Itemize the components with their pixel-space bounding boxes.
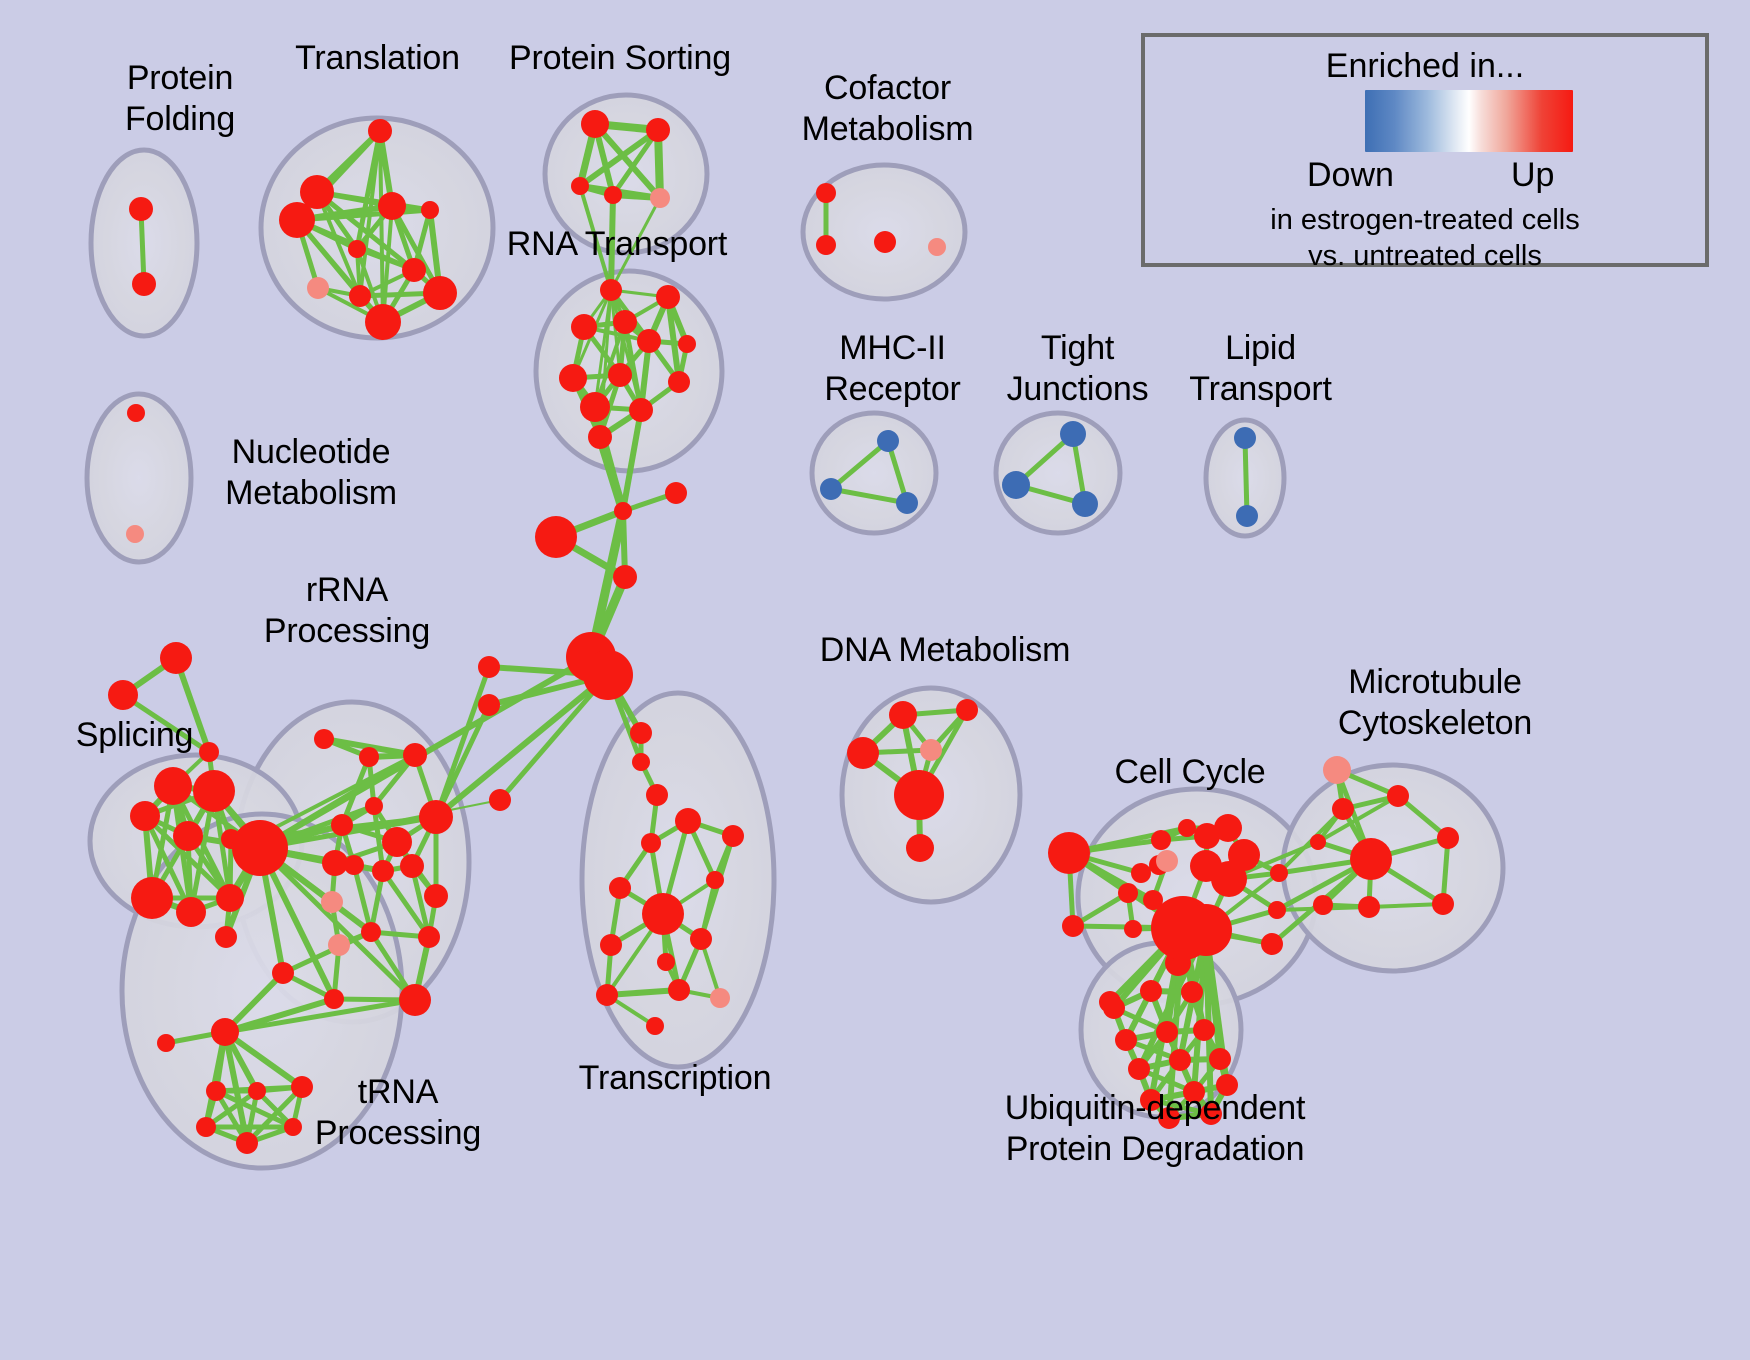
gene-set-node[interactable] (675, 808, 701, 834)
gene-set-node[interactable] (131, 877, 173, 919)
legend-caption-line-2: vs. untreated cells (1145, 240, 1705, 273)
enrichment-map-figure: Protein FoldingTranslationProtein Sortin… (0, 0, 1750, 1360)
gene-set-node[interactable] (1062, 915, 1084, 937)
gene-set-node[interactable] (328, 934, 350, 956)
cluster-label-protein-sorting: Protein Sorting (497, 38, 743, 79)
gene-set-node[interactable] (1072, 491, 1098, 517)
gene-set-node[interactable] (665, 482, 687, 504)
gene-set-node[interactable] (690, 928, 712, 950)
gene-set-node[interactable] (236, 1132, 258, 1154)
gene-set-node[interactable] (399, 984, 431, 1016)
gene-set-node[interactable] (928, 238, 946, 256)
gene-set-node[interactable] (127, 404, 145, 422)
cluster-label-dna-metabolism: DNA Metabolism (810, 630, 1080, 671)
gene-set-node[interactable] (173, 821, 203, 851)
gene-set-node[interactable] (1437, 827, 1459, 849)
gene-set-node[interactable] (678, 335, 696, 353)
gene-set-node[interactable] (1128, 1058, 1150, 1080)
gene-set-node[interactable] (478, 694, 500, 716)
gene-set-node[interactable] (368, 119, 392, 143)
gene-set-node[interactable] (400, 854, 424, 878)
gene-set-node[interactable] (583, 650, 633, 700)
gene-set-node[interactable] (613, 565, 637, 589)
gene-set-node[interactable] (1194, 823, 1220, 849)
gene-set-node[interactable] (668, 371, 690, 393)
gene-set-node[interactable] (361, 922, 381, 942)
gene-set-node[interactable] (344, 855, 364, 875)
gene-set-node[interactable] (365, 797, 383, 815)
cluster-label-cofactor-metabolism: Cofactor Metabolism (775, 68, 1000, 150)
gene-set-node[interactable] (348, 240, 366, 258)
gene-set-node[interactable] (402, 258, 426, 282)
gene-set-node[interactable] (1124, 920, 1142, 938)
gene-set-node[interactable] (588, 425, 612, 449)
legend-title: Enriched in... (1145, 47, 1705, 86)
legend-caption-line-1: in estrogen-treated cells (1145, 204, 1705, 237)
gene-set-node[interactable] (847, 737, 879, 769)
cluster-label-ubiquitin-degradation: Ubiquitin-dependent Protein Degradation (985, 1088, 1325, 1170)
gene-set-node[interactable] (722, 825, 744, 847)
gene-set-node[interactable] (630, 722, 652, 744)
gene-set-node[interactable] (1310, 834, 1326, 850)
gene-set-node[interactable] (1268, 901, 1286, 919)
gene-set-node[interactable] (656, 285, 680, 309)
gene-set-node[interactable] (1234, 427, 1256, 449)
gene-set-node[interactable] (421, 201, 439, 219)
legend-down-label: Down (1307, 156, 1394, 195)
gene-set-node[interactable] (609, 877, 631, 899)
gene-set-node[interactable] (129, 197, 153, 221)
gene-set-node[interactable] (1387, 785, 1409, 807)
cluster-label-trna-processing: tRNA Processing (298, 1072, 498, 1154)
gene-set-node[interactable] (604, 186, 622, 204)
gene-set-node[interactable] (1180, 904, 1232, 956)
gene-set-node[interactable] (1193, 1019, 1215, 1041)
gene-set-node[interactable] (600, 934, 622, 956)
gene-set-node[interactable] (248, 1082, 266, 1100)
gene-set-node[interactable] (196, 1117, 216, 1137)
gene-set-node[interactable] (1002, 471, 1030, 499)
gene-set-node[interactable] (877, 430, 899, 452)
gene-set-node[interactable] (889, 701, 917, 729)
gene-set-node[interactable] (820, 478, 842, 500)
gene-set-node[interactable] (896, 492, 918, 514)
legend-box: Enriched in... Down Up in estrogen-treat… (1141, 33, 1709, 267)
gene-set-node[interactable] (1270, 864, 1288, 882)
gene-set-node[interactable] (359, 747, 379, 767)
gene-set-node[interactable] (322, 850, 348, 876)
gene-set-node[interactable] (596, 984, 618, 1006)
gene-set-node[interactable] (193, 770, 235, 812)
gene-set-node[interactable] (581, 110, 609, 138)
cluster-label-splicing: Splicing (62, 715, 207, 756)
gene-set-node[interactable] (637, 329, 661, 353)
cluster-label-rrna-processing: rRNA Processing (247, 570, 447, 652)
gene-set-node[interactable] (279, 202, 315, 238)
gene-set-node[interactable] (816, 235, 836, 255)
gene-set-node[interactable] (126, 525, 144, 543)
gene-set-node[interactable] (1151, 830, 1171, 850)
gene-set-node[interactable] (215, 926, 237, 948)
gene-set-node[interactable] (874, 231, 896, 253)
gene-set-node[interactable] (613, 310, 637, 334)
cluster-ellipse-mhc-ii-receptor (812, 413, 936, 533)
gene-set-node[interactable] (157, 1034, 175, 1052)
gene-set-node[interactable] (535, 516, 577, 558)
gene-set-node[interactable] (1048, 832, 1090, 874)
gene-set-node[interactable] (816, 183, 836, 203)
gene-set-node[interactable] (324, 989, 344, 1009)
gene-set-node[interactable] (349, 285, 371, 307)
gene-set-node[interactable] (608, 363, 632, 387)
gene-set-node[interactable] (668, 979, 690, 1001)
gene-set-node[interactable] (1209, 1048, 1231, 1070)
network-edge (1245, 438, 1247, 516)
gene-set-node[interactable] (559, 364, 587, 392)
gene-set-node[interactable] (418, 926, 440, 948)
gene-set-node[interactable] (314, 729, 334, 749)
cluster-label-cell-cycle: Cell Cycle (1105, 752, 1275, 793)
gene-set-node[interactable] (580, 392, 610, 422)
gene-set-node[interactable] (1156, 850, 1178, 872)
gene-set-node[interactable] (1156, 1021, 1178, 1043)
cluster-label-protein-folding: Protein Folding (80, 58, 280, 140)
gene-set-node[interactable] (1131, 863, 1151, 883)
gene-set-node[interactable] (1140, 980, 1162, 1002)
gene-set-node[interactable] (1115, 1029, 1137, 1051)
gene-set-node[interactable] (232, 820, 288, 876)
gene-set-node[interactable] (646, 1017, 664, 1035)
gene-set-node[interactable] (403, 743, 427, 767)
gene-set-node[interactable] (1261, 933, 1283, 955)
gene-set-node[interactable] (307, 277, 329, 299)
gene-set-node[interactable] (382, 827, 412, 857)
gene-set-node[interactable] (646, 784, 668, 806)
gene-set-node[interactable] (478, 656, 500, 678)
gene-set-node[interactable] (211, 1018, 239, 1046)
gene-set-node[interactable] (423, 276, 457, 310)
gene-set-node[interactable] (130, 801, 160, 831)
gene-set-node[interactable] (1313, 895, 1333, 915)
gene-set-node[interactable] (1358, 896, 1380, 918)
gene-set-node[interactable] (419, 800, 453, 834)
legend-up-label: Up (1511, 156, 1554, 195)
cluster-label-microtubule-cytoskeleton: Microtubule Cytoskeleton (1310, 662, 1560, 744)
gene-set-node[interactable] (641, 833, 661, 853)
gene-set-node[interactable] (206, 1081, 226, 1101)
gene-set-node[interactable] (706, 871, 724, 889)
gene-set-node[interactable] (571, 314, 597, 340)
gene-set-node[interactable] (300, 175, 334, 209)
gene-set-node[interactable] (176, 897, 206, 927)
gene-set-node[interactable] (1169, 1049, 1191, 1071)
cluster-label-mhc-ii-receptor: MHC-II Receptor (800, 328, 985, 410)
gene-set-node[interactable] (365, 304, 401, 340)
gene-set-node[interactable] (1432, 893, 1454, 915)
gene-set-node[interactable] (108, 680, 138, 710)
legend-color-bar (1365, 90, 1573, 152)
gene-set-node[interactable] (956, 699, 978, 721)
gene-set-node[interactable] (571, 177, 589, 195)
gene-set-node[interactable] (646, 118, 670, 142)
gene-set-node[interactable] (642, 893, 684, 935)
gene-set-node[interactable] (331, 814, 353, 836)
gene-set-node[interactable] (216, 884, 244, 912)
gene-set-node[interactable] (1236, 505, 1258, 527)
gene-set-node[interactable] (489, 789, 511, 811)
gene-set-node[interactable] (160, 642, 192, 674)
gene-set-node[interactable] (154, 767, 192, 805)
gene-set-node[interactable] (632, 753, 650, 771)
gene-set-node[interactable] (906, 834, 934, 862)
gene-set-node[interactable] (1350, 838, 1392, 880)
cluster-ellipse-transcription (582, 693, 774, 1067)
cluster-label-tight-junctions: Tight Junctions (985, 328, 1170, 410)
gene-set-node[interactable] (272, 962, 294, 984)
gene-set-node[interactable] (629, 398, 653, 422)
gene-set-node[interactable] (1060, 421, 1086, 447)
gene-set-node[interactable] (1211, 861, 1247, 897)
cluster-label-lipid-transport: Lipid Transport (1168, 328, 1353, 410)
cluster-label-rna-transport: RNA Transport (497, 224, 737, 265)
gene-set-node[interactable] (1118, 883, 1138, 903)
gene-set-node[interactable] (1099, 991, 1121, 1013)
gene-set-node[interactable] (1181, 981, 1203, 1003)
gene-set-node[interactable] (1178, 819, 1196, 837)
cluster-label-nucleotide-metabolism: Nucleotide Metabolism (196, 432, 426, 514)
gene-set-node[interactable] (710, 988, 730, 1008)
gene-set-node[interactable] (321, 891, 343, 913)
gene-set-node[interactable] (1323, 756, 1351, 784)
gene-set-node[interactable] (424, 884, 448, 908)
gene-set-node[interactable] (894, 770, 944, 820)
cluster-label-translation: Translation (270, 38, 485, 79)
cluster-label-transcription: Transcription (569, 1058, 781, 1099)
gene-set-node[interactable] (1332, 798, 1354, 820)
gene-set-node[interactable] (650, 188, 670, 208)
gene-set-node[interactable] (132, 272, 156, 296)
gene-set-node[interactable] (600, 279, 622, 301)
gene-set-node[interactable] (920, 739, 942, 761)
gene-set-node[interactable] (372, 860, 394, 882)
gene-set-node[interactable] (614, 502, 632, 520)
gene-set-node[interactable] (657, 953, 675, 971)
gene-set-node[interactable] (378, 192, 406, 220)
